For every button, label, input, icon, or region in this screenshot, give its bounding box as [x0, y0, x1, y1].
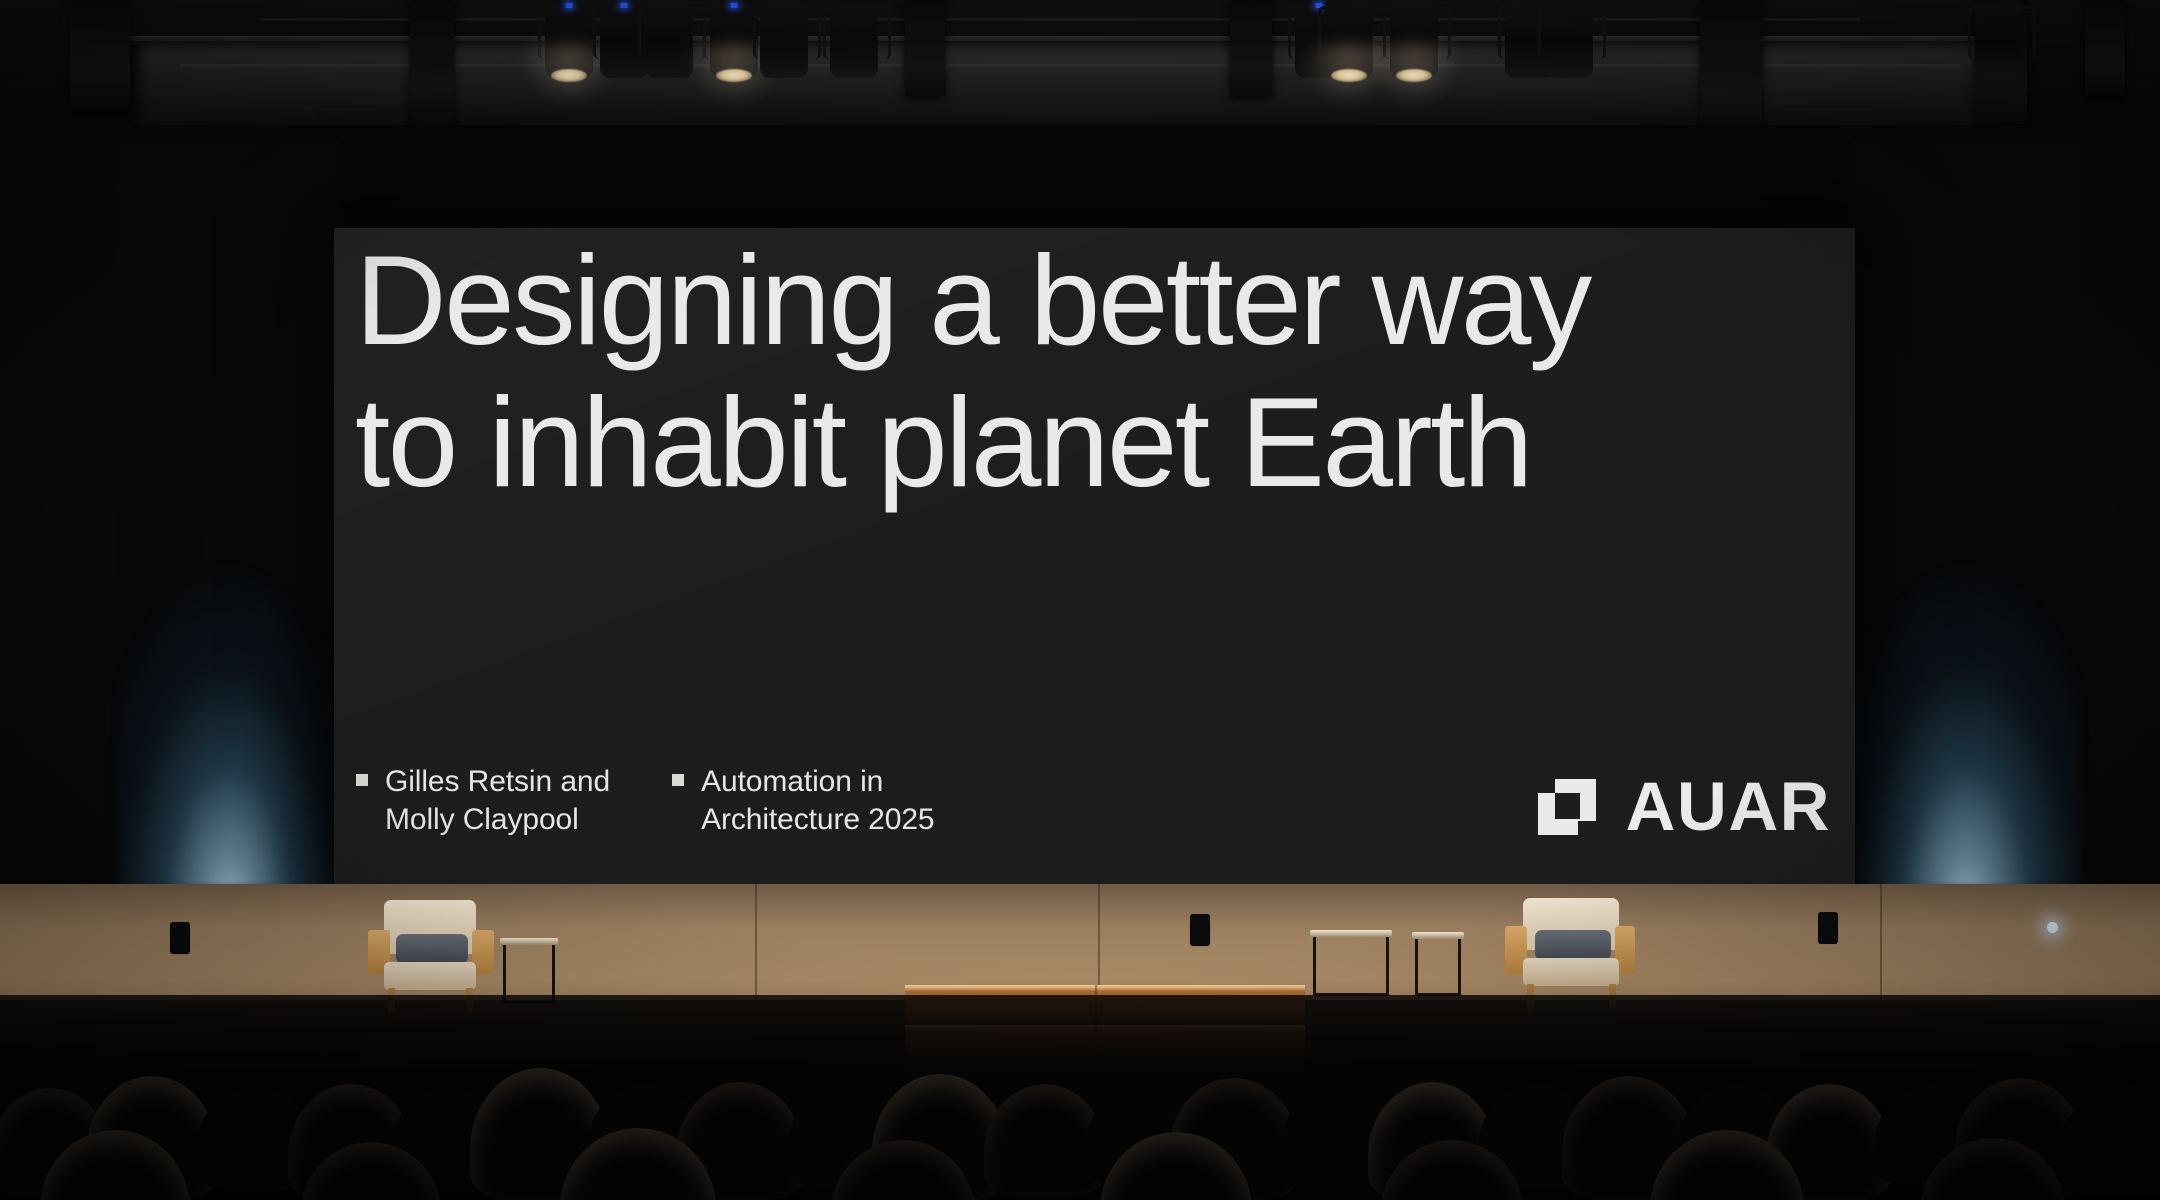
cushion-pillow [1535, 930, 1611, 960]
side-table-left [500, 938, 558, 1004]
stage-furniture [0, 0, 2160, 1200]
side-table-right [1412, 932, 1464, 996]
cushion-pillow [396, 934, 468, 964]
side-table-center [1310, 930, 1392, 996]
conference-stage-photo: Designing a better way to inhabit planet… [0, 0, 2160, 1200]
armchair-left [366, 900, 496, 1008]
armchair-right [1505, 898, 1635, 1008]
